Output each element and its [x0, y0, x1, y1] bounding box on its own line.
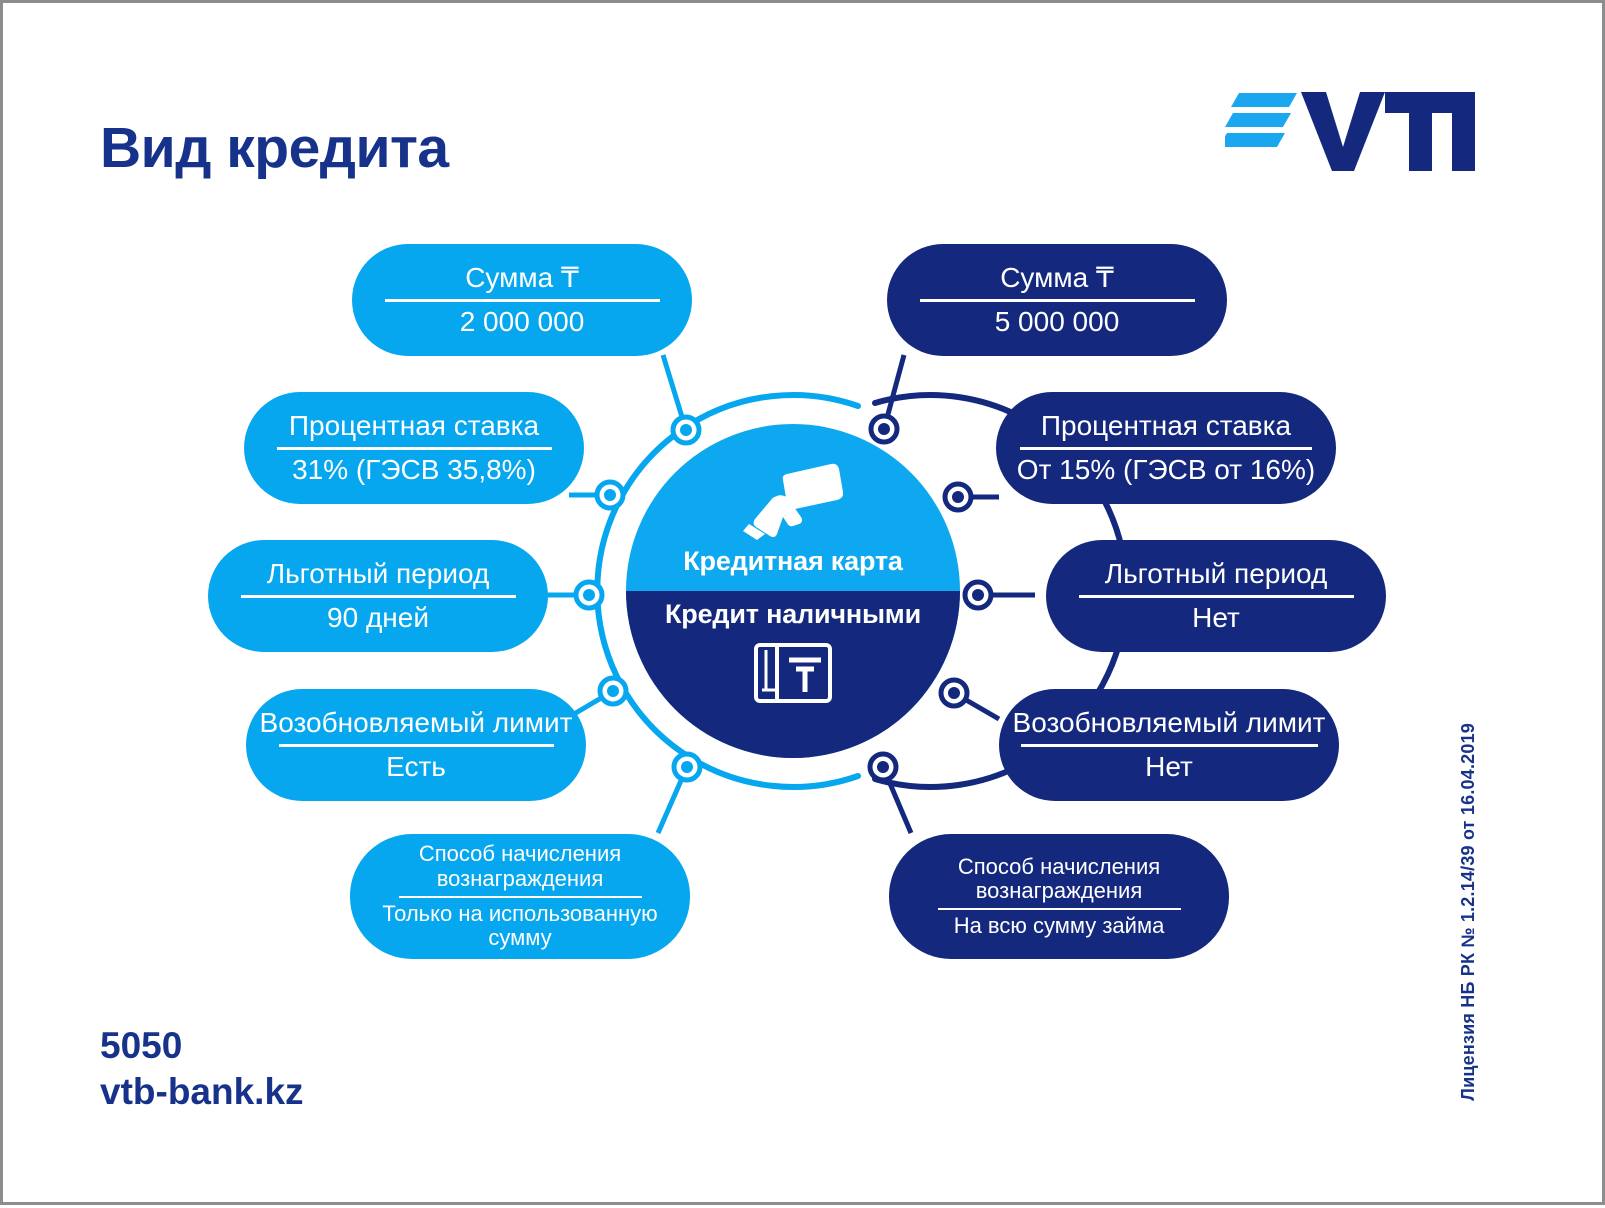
cash-accrual-head: Способ начисления вознаграждения	[911, 855, 1207, 904]
spoke-right-1	[884, 355, 904, 429]
vtb-logo	[1225, 75, 1475, 175]
node-left-2	[597, 482, 623, 508]
center-hub: Кредитная карта Кредит наличными	[626, 424, 960, 758]
logo-wordmark	[1301, 92, 1475, 171]
cash-limit-pill[interactable]: Возобновляемый лимит Нет	[999, 689, 1339, 801]
card-accrual-pill[interactable]: Способ начисления вознаграждения Только …	[350, 834, 690, 959]
spoke-right-4	[954, 693, 999, 719]
card-accrual-head: Способ начисления вознаграждения	[372, 842, 668, 891]
cash-grace-head: Льготный период	[1105, 559, 1328, 589]
divider-rule	[1020, 447, 1312, 450]
card-rate-head: Процентная ставка	[289, 411, 539, 441]
divider-rule	[399, 896, 642, 898]
cash-rate-pill[interactable]: Процентная ставка От 15% (ГЭСВ от 16%)	[996, 392, 1336, 504]
spoke-left-5	[658, 767, 687, 833]
card-limit-pill[interactable]: Возобновляемый лимит Есть	[246, 689, 586, 801]
card-sum-value: 2 000 000	[460, 307, 585, 337]
cash-grace-pill[interactable]: Льготный период Нет	[1046, 540, 1386, 652]
page-title: Вид кредита	[100, 115, 449, 181]
cash-limit-value: Нет	[1145, 752, 1193, 782]
divider-rule	[920, 299, 1195, 302]
divider-rule	[938, 908, 1181, 910]
divider-rule	[279, 744, 554, 747]
card-grace-head: Льготный период	[267, 559, 490, 589]
cash-accrual-value: На всю сумму займа	[954, 914, 1165, 939]
hub-label-credit-card: Кредитная карта	[626, 546, 960, 577]
contact-phone[interactable]: 5050	[100, 1023, 304, 1069]
footer-contacts: 5050 vtb-bank.kz	[100, 1023, 304, 1115]
spoke-right-5	[883, 767, 911, 833]
hand-holding-credit-card-icon	[743, 462, 843, 540]
card-rate-value: 31% (ГЭСВ 35,8%)	[292, 455, 536, 485]
card-grace-pill[interactable]: Льготный период 90 дней	[208, 540, 548, 652]
card-grace-value: 90 дней	[327, 603, 429, 633]
hub-label-cash-loan: Кредит наличными	[626, 599, 960, 630]
cash-sum-pill[interactable]: Сумма ₸ 5 000 000	[887, 244, 1227, 356]
divider-rule	[241, 595, 516, 598]
node-left-4	[600, 678, 626, 704]
node-left-3	[576, 582, 602, 608]
node-right-3	[965, 582, 991, 608]
card-limit-head: Возобновляемый лимит	[260, 708, 573, 738]
cash-sum-value: 5 000 000	[995, 307, 1120, 337]
cash-grace-value: Нет	[1192, 603, 1240, 633]
divider-rule	[277, 447, 552, 450]
logo-bars-icon	[1225, 93, 1297, 147]
card-limit-value: Есть	[386, 752, 446, 782]
divider-rule	[385, 299, 660, 302]
cash-accrual-pill[interactable]: Способ начисления вознаграждения На всю …	[889, 834, 1229, 959]
cash-sum-head: Сумма ₸	[1000, 263, 1114, 293]
contact-website[interactable]: vtb-bank.kz	[100, 1069, 304, 1115]
divider-rule	[1021, 744, 1318, 747]
license-note: Лицензия НБ РК № 1.2.14/39 от 16.04.2019	[1458, 723, 1479, 1101]
divider-rule	[1079, 595, 1354, 598]
card-sum-head: Сумма ₸	[465, 263, 579, 293]
card-accrual-value: Только на использованную сумму	[372, 902, 668, 951]
cash-rate-head: Процентная ставка	[1041, 411, 1291, 441]
card-sum-pill[interactable]: Сумма ₸ 2 000 000	[352, 244, 692, 356]
cash-limit-head: Возобновляемый лимит	[1013, 708, 1326, 738]
banknote-tenge-icon	[753, 642, 833, 704]
card-rate-pill[interactable]: Процентная ставка 31% (ГЭСВ 35,8%)	[244, 392, 584, 504]
cash-rate-value: От 15% (ГЭСВ от 16%)	[1017, 455, 1315, 485]
slide-canvas: Вид кредита	[0, 0, 1605, 1205]
spoke-left-1	[663, 355, 686, 430]
